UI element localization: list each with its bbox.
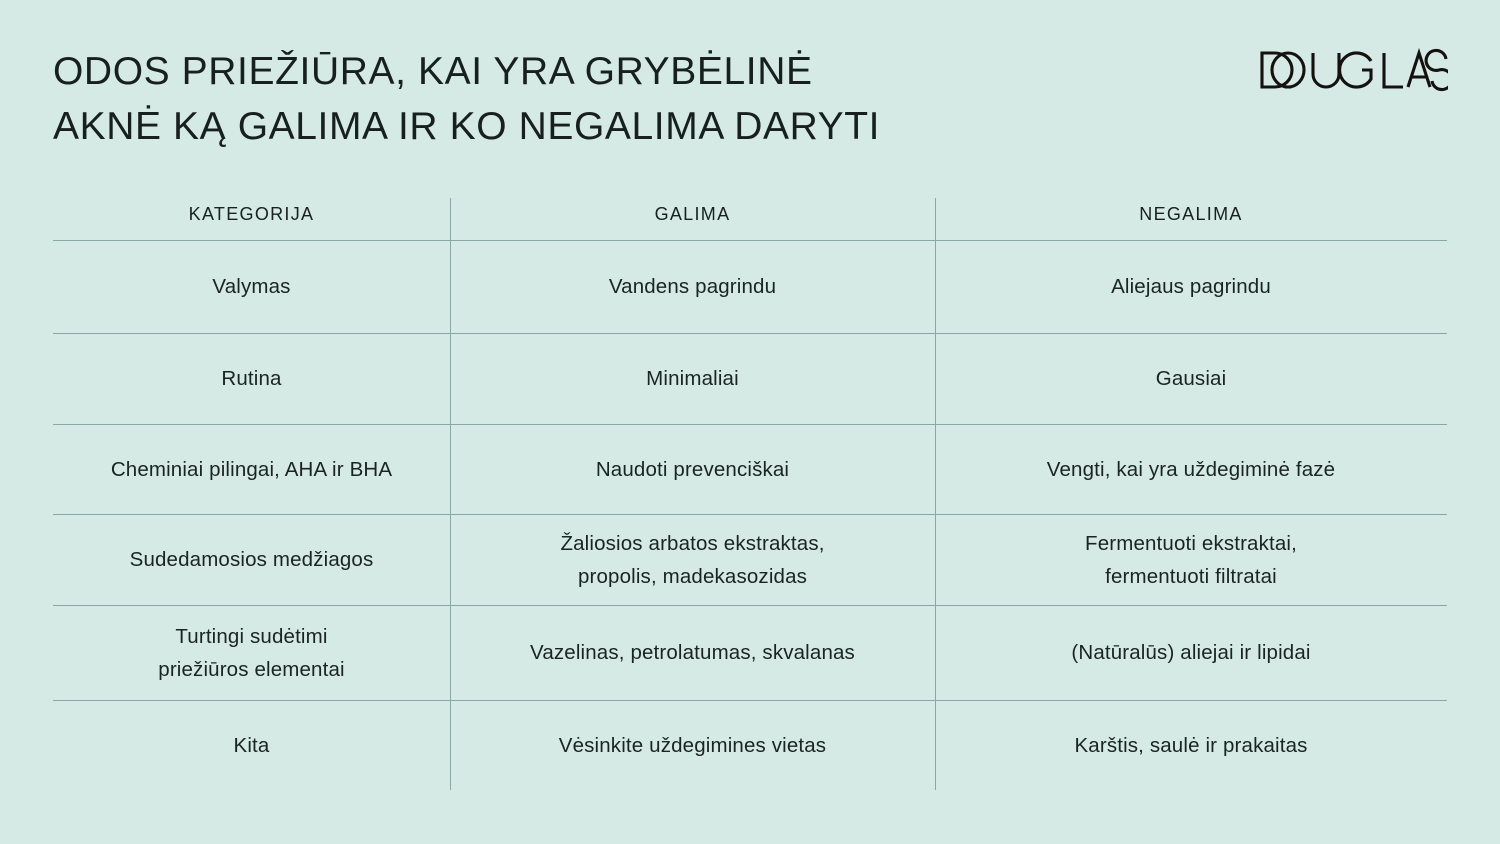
table-row: Cheminiai pilingai, AHA ir BHA Naudoti p…: [53, 425, 1447, 514]
table-row: Valymas Vandens pagrindu Aliejaus pagrin…: [53, 241, 1447, 333]
page-title: ODOS PRIEŽIŪRA, KAI YRA GRYBĖLINĖ AKNĖ K…: [53, 44, 1133, 155]
cell-allowed: Vazelinas, petrolatumas, skvalanas: [450, 606, 935, 700]
comparison-table: KATEGORIJA GALIMA NEGALIMA Valymas Vande…: [53, 190, 1447, 790]
cell-forbidden: Fermentuoti ekstraktai, fermentuoti filt…: [935, 515, 1447, 605]
column-header-negalima: NEGALIMA: [935, 190, 1447, 240]
cell-forbidden: Aliejaus pagrindu: [935, 241, 1447, 333]
page-header: ODOS PRIEŽIŪRA, KAI YRA GRYBĖLINĖ AKNĖ K…: [0, 0, 1500, 180]
cell-category: Cheminiai pilingai, AHA ir BHA: [53, 425, 450, 514]
cell-allowed: Minimaliai: [450, 334, 935, 424]
table-row: Kita Vėsinkite uždegimines vietas Karšti…: [53, 701, 1447, 790]
table-row: Sudedamosios medžiagos Žaliosios arbatos…: [53, 515, 1447, 605]
table-row: Turtingi sudėtimi priežiūros elementai V…: [53, 606, 1447, 700]
table-header-row: KATEGORIJA GALIMA NEGALIMA: [53, 190, 1447, 240]
column-header-galima: GALIMA: [450, 190, 935, 240]
cell-category: Rutina: [53, 334, 450, 424]
cell-allowed: Vandens pagrindu: [450, 241, 935, 333]
cell-category: Kita: [53, 701, 450, 790]
cell-forbidden: Vengti, kai yra uždegiminė fazė: [935, 425, 1447, 514]
douglas-logo: [1258, 48, 1448, 94]
column-header-kategorija: KATEGORIJA: [53, 190, 450, 240]
cell-allowed: Žaliosios arbatos ekstraktas, propolis, …: [450, 515, 935, 605]
cell-allowed: Naudoti prevenciškai: [450, 425, 935, 514]
cell-forbidden: Gausiai: [935, 334, 1447, 424]
cell-forbidden: (Natūralūs) aliejai ir lipidai: [935, 606, 1447, 700]
cell-category: Turtingi sudėtimi priežiūros elementai: [53, 606, 450, 700]
cell-category: Valymas: [53, 241, 450, 333]
cell-category: Sudedamosios medžiagos: [53, 515, 450, 605]
table-row: Rutina Minimaliai Gausiai: [53, 334, 1447, 424]
cell-allowed: Vėsinkite uždegimines vietas: [450, 701, 935, 790]
cell-forbidden: Karštis, saulė ir prakaitas: [935, 701, 1447, 790]
